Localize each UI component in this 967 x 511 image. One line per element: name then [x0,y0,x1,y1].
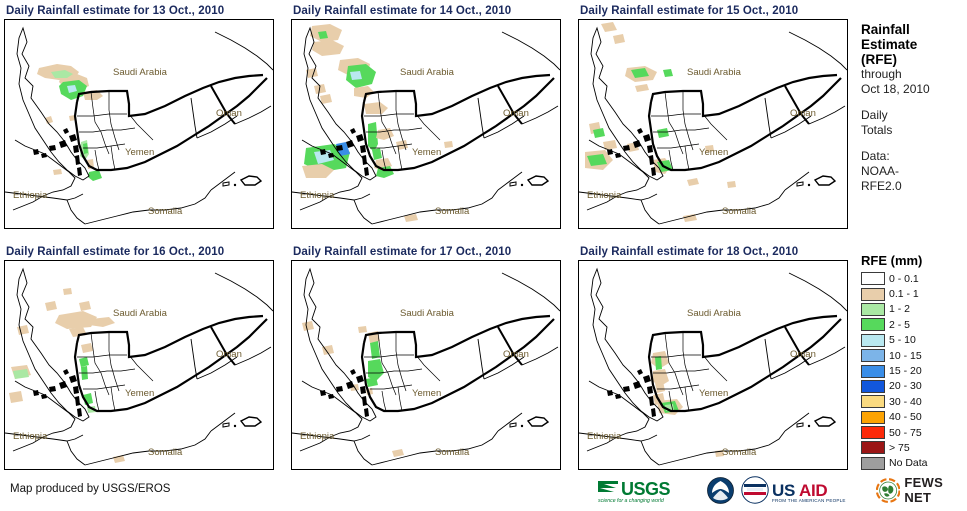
info-data-source-1: NOAA- [861,164,965,179]
legend-item: 0.1 - 1 [861,286,965,301]
fews-net-label: FEWS NET [904,475,967,505]
legend-swatch-icon [861,457,885,470]
map-credit: Map produced by USGS/EROS [10,483,170,495]
usaid-logo: US AID FROM THE AMERICAN PEOPLE [741,475,869,505]
legend-item: 5 - 10 [861,333,965,348]
panel-title: Daily Rainfall estimate for 13 Oct., 201… [6,4,274,19]
svg-text:science for a changing world: science for a changing world [598,498,665,504]
map-graphic [579,20,847,228]
legend-label: 10 - 15 [889,350,922,362]
map-panel-14-oct: Daily Rainfall estimate for 14 Oct., 201… [291,4,561,229]
map-graphic [292,20,560,228]
legend-item: 1 - 2 [861,302,965,317]
usaid-logo-icon: US AID FROM THE AMERICAN PEOPLE [741,476,869,504]
info-totals: Totals [861,123,965,138]
legend-item: 20 - 30 [861,379,965,394]
legend-label: 40 - 50 [889,411,922,423]
svg-text:USGS: USGS [621,479,671,499]
legend-label: 50 - 75 [889,427,922,439]
info-data-label: Data: [861,149,965,164]
info-title-line-1: Rainfall [861,22,965,37]
legend-item: > 75 [861,440,965,455]
legend-item: 50 - 75 [861,425,965,440]
logo-bar: USGS science for a changing world US [596,474,967,506]
map-frame[interactable]: Saudi Arabia Oman Yemen Ethiopia Somalia [578,260,848,470]
legend-item: 30 - 40 [861,394,965,409]
legend-label: 1 - 2 [889,303,910,315]
info-data-source-2: RFE2.0 [861,179,965,194]
legend-swatch-icon [861,441,885,454]
legend-swatch-icon [861,395,885,408]
legend-item: 2 - 5 [861,317,965,332]
map-graphic [5,261,273,469]
map-frame[interactable]: Saudi Arabia Oman Yemen Ethiopia Somalia [578,19,848,229]
legend-item: No Data [861,456,965,471]
map-panel-16-oct: Daily Rainfall estimate for 16 Oct., 201… [4,245,274,470]
legend-swatch-icon [861,288,885,301]
fews-net-logo: FEWS NET [876,475,967,505]
panel-title: Daily Rainfall estimate for 16 Oct., 201… [6,245,274,260]
panel-title: Daily Rainfall estimate for 14 Oct., 201… [293,4,561,19]
map-graphic [579,261,847,469]
legend-item: 15 - 20 [861,363,965,378]
map-graphic [5,20,273,228]
rfe-map-figure: Daily Rainfall estimate for 13 Oct., 201… [0,0,967,511]
map-panel-13-oct: Daily Rainfall estimate for 13 Oct., 201… [4,4,274,229]
legend: RFE (mm) 0 - 0.1 0.1 - 1 1 - 2 2 - 5 5 -… [861,253,965,471]
legend-label: 30 - 40 [889,396,922,408]
map-panel-17-oct: Daily Rainfall estimate for 17 Oct., 201… [291,245,561,470]
map-panel-15-oct: Daily Rainfall estimate for 15 Oct., 201… [578,4,848,229]
legend-label: 2 - 5 [889,319,910,331]
legend-label: 0 - 0.1 [889,273,919,285]
info-block: Rainfall Estimate (RFE) through Oct 18, … [861,22,965,194]
legend-label: 20 - 30 [889,380,922,392]
legend-label: 5 - 10 [889,334,916,346]
fews-net-logo-icon [876,477,900,504]
legend-label: No Data [889,457,928,469]
svg-text:FROM THE AMERICAN PEOPLE: FROM THE AMERICAN PEOPLE [772,498,846,503]
legend-swatch-icon [861,411,885,424]
spacer [861,97,965,108]
legend-swatch-icon [861,426,885,439]
legend-item: 0 - 0.1 [861,271,965,286]
info-through-date: Oct 18, 2010 [861,82,965,97]
info-title-line-2: Estimate [861,37,965,52]
map-frame[interactable]: Saudi Arabia Oman Yemen Ethiopia Somalia [4,19,274,229]
noaa-logo-icon [707,477,734,504]
info-title-line-3: (RFE) [861,52,965,67]
legend-swatch-icon [861,303,885,316]
legend-label: 0.1 - 1 [889,288,919,300]
usgs-logo-icon: USGS science for a changing world [596,476,700,504]
panel-title: Daily Rainfall estimate for 15 Oct., 201… [580,4,848,19]
legend-label: 15 - 20 [889,365,922,377]
spacer [861,138,965,149]
legend-item: 40 - 50 [861,410,965,425]
legend-swatch-icon [861,365,885,378]
usgs-logo: USGS science for a changing world [596,475,700,505]
map-panel-18-oct: Daily Rainfall estimate for 18 Oct., 201… [578,245,848,470]
legend-swatch-icon [861,349,885,362]
panel-title: Daily Rainfall estimate for 17 Oct., 201… [293,245,561,260]
legend-swatch-icon [861,380,885,393]
map-graphic [292,261,560,469]
info-daily: Daily [861,108,965,123]
legend-item: 10 - 15 [861,348,965,363]
info-through: through [861,67,965,82]
map-frame[interactable]: Saudi Arabia Oman Yemen Ethiopia Somalia [291,260,561,470]
legend-swatch-icon [861,334,885,347]
legend-title: RFE (mm) [861,253,965,268]
legend-swatch-icon [861,318,885,331]
legend-label: > 75 [889,442,910,454]
map-frame[interactable]: Saudi Arabia Oman Yemen Ethiopia Somalia [4,260,274,470]
legend-swatch-icon [861,272,885,285]
panel-title: Daily Rainfall estimate for 18 Oct., 201… [580,245,848,260]
map-frame[interactable]: Saudi Arabia Oman Yemen Ethiopia Somalia [291,19,561,229]
noaa-logo [707,475,734,505]
